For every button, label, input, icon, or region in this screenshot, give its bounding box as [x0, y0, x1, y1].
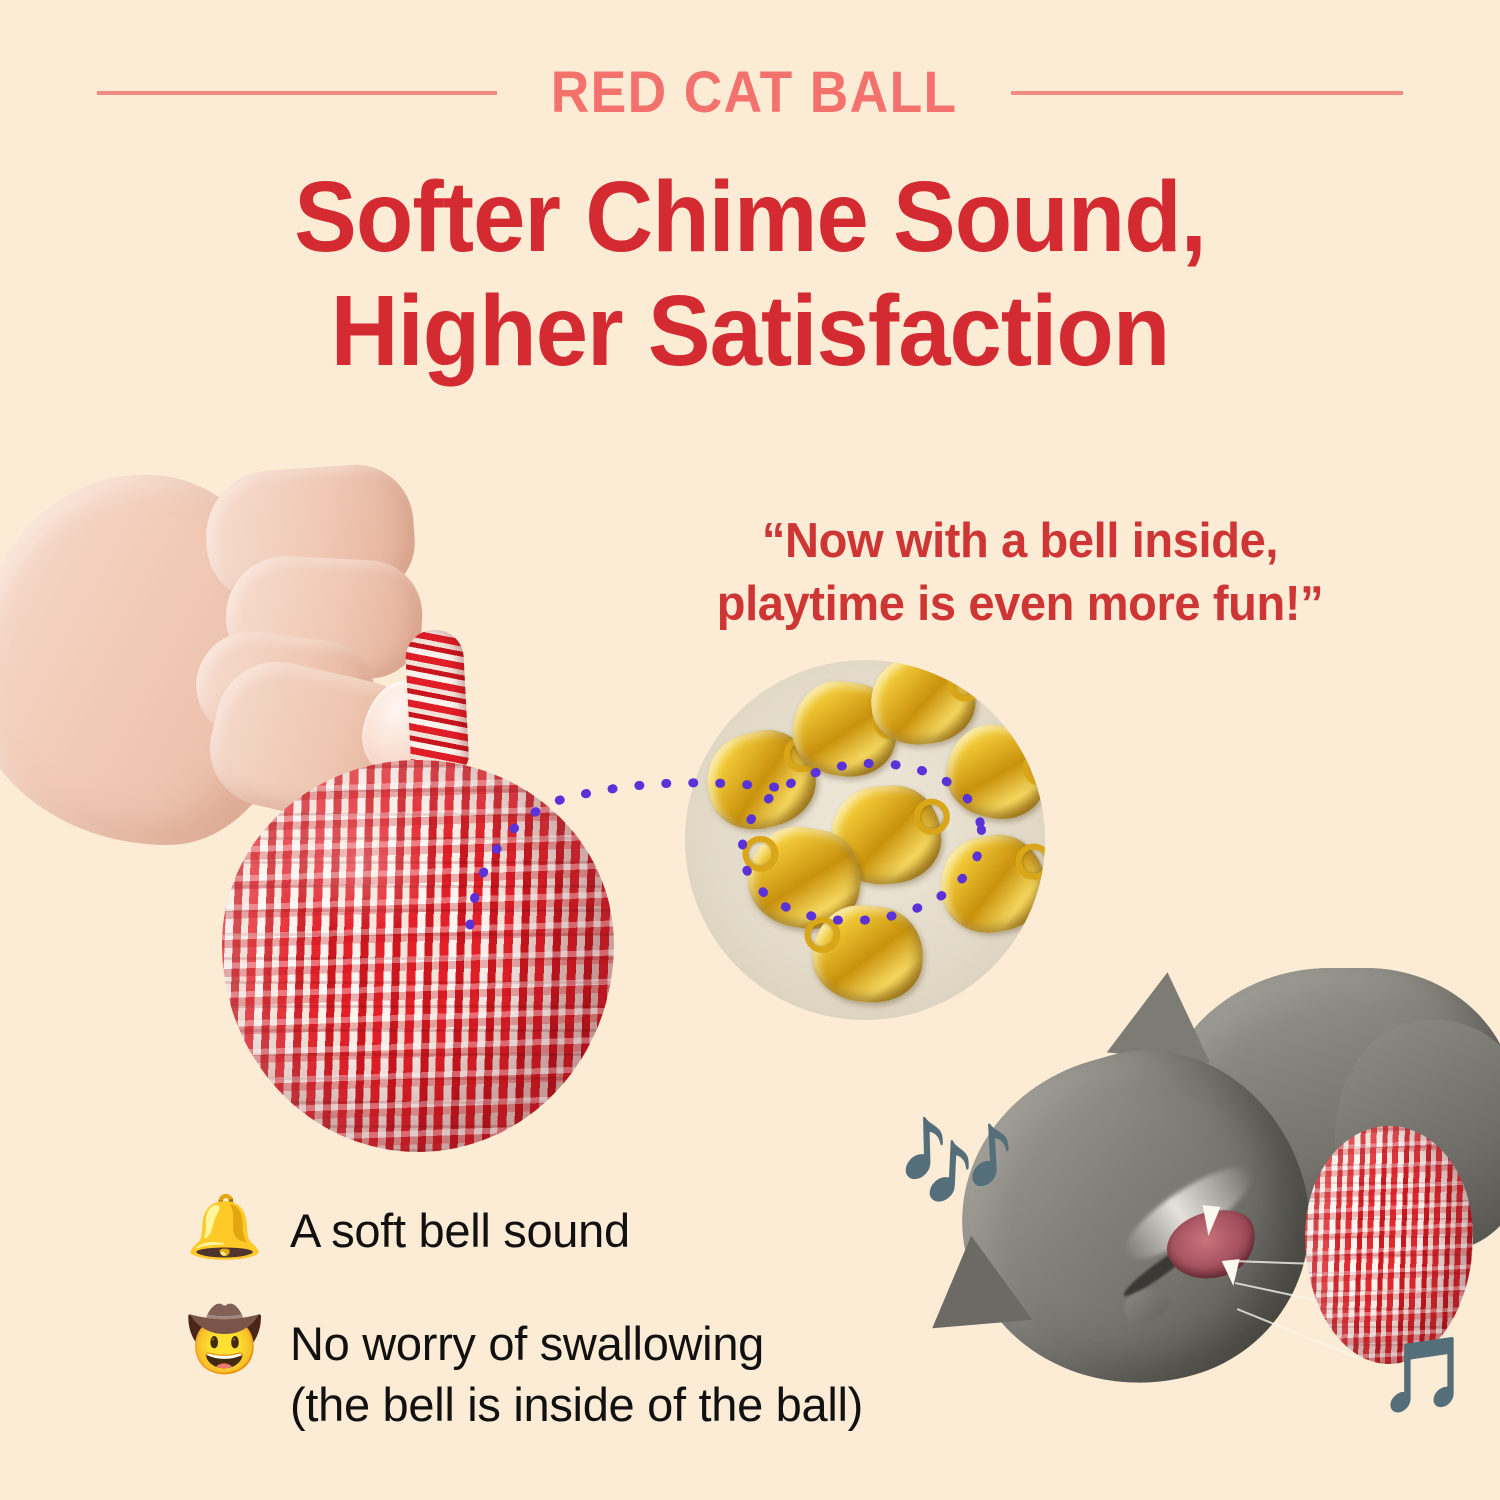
cat-ear-right [1107, 967, 1219, 1063]
feature-list: 🔔 A soft bell sound 🤠 No worry of swallo… [186, 1196, 946, 1483]
cowboy-hat-face-emoji-icon: 🤠 [186, 1309, 252, 1372]
list-item: 🤠 No worry of swallowing (the bell is in… [186, 1309, 946, 1435]
cat-with-ball-photo [905, 960, 1500, 1500]
feature-line-1: No worry of swallowing [290, 1313, 863, 1374]
list-item: 🔔 A soft bell sound [186, 1196, 946, 1261]
divider-rule-left [97, 91, 497, 95]
feature-text: No worry of swallowing (the bell is insi… [290, 1309, 863, 1435]
bell-loop-icon [1019, 746, 1045, 789]
quote-line-2: playtime is even more fun!” [674, 573, 1365, 636]
red-crochet-ball-small [1305, 1126, 1473, 1364]
feature-line-2: (the bell is inside of the ball) [290, 1374, 863, 1435]
quote-line-1: “Now with a bell inside, [674, 510, 1365, 573]
bell-loop-icon [913, 797, 951, 835]
musical-note-emoji: 🎵 [1378, 1338, 1470, 1412]
bell-loop-icon [1013, 841, 1045, 883]
cat-fang-upper [1199, 1205, 1220, 1237]
feature-line-1: A soft bell sound [290, 1200, 630, 1261]
bell-loop-icon [740, 833, 782, 875]
product-feature-poster: RED CAT BALL Softer Chime Sound, Higher … [0, 0, 1500, 1500]
yarn-hanging-loop [404, 629, 470, 778]
product-name-eyebrow: RED CAT BALL [551, 64, 958, 122]
bell-loop-icon [946, 664, 986, 704]
bell-loop-icon [803, 916, 842, 955]
bell-emoji-icon: 🔔 [186, 1196, 252, 1259]
eyebrow-header: RED CAT BALL [0, 58, 1500, 128]
red-crochet-ball-large [222, 760, 614, 1152]
page-title: Softer Chime Sound, Higher Satisfaction [0, 160, 1500, 388]
headline-line-1: Softer Chime Sound, [45, 160, 1455, 274]
testimonial-quote: “Now with a bell inside, playtime is eve… [660, 510, 1380, 635]
jingle-bell [933, 828, 1045, 941]
feature-text: A soft bell sound [290, 1196, 630, 1261]
headline-line-2: Higher Satisfaction [45, 274, 1455, 388]
divider-rule-right [1011, 91, 1403, 95]
